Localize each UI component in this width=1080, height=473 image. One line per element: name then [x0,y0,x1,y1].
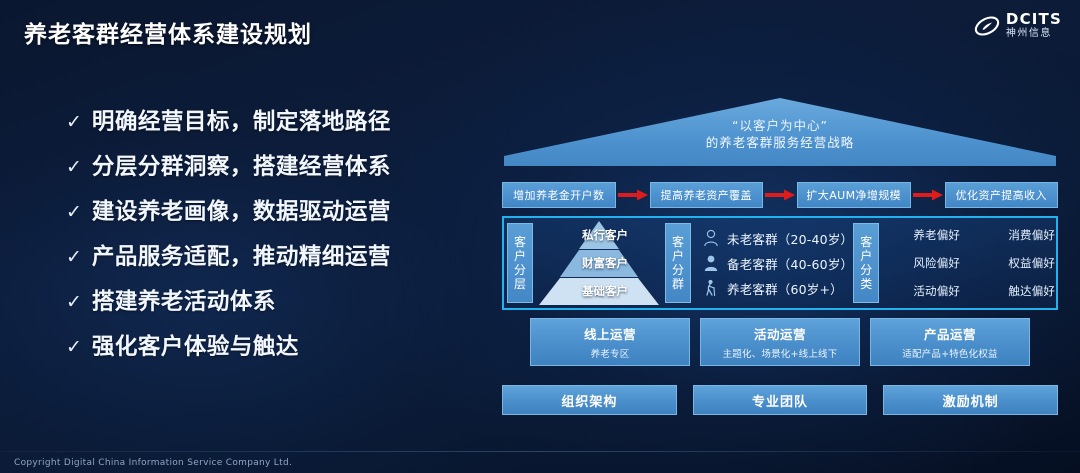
arrow-right-icon [911,182,945,208]
list-item-label: 搭建养老活动体系 [92,284,276,316]
class-label-c3: 类 [860,277,872,291]
tier-label-c2: 分 [514,263,526,277]
check-icon: ✓ [66,158,82,177]
foundation-card-team[interactable]: 专业团队 [693,385,868,415]
group-label-c2: 分 [672,263,684,277]
kpi-box-2[interactable]: 提高养老资产覆盖 [650,182,764,208]
group-label-c1: 户 [672,249,684,263]
class-vertical-label: 客 户 分 类 [853,223,879,303]
tier-label-c0: 客 [514,235,526,249]
tier-label-c3: 层 [514,277,526,291]
check-icon: ✓ [66,248,82,267]
list-item-label: 分层分群洞察，搭建经营体系 [92,149,391,181]
strategy-house-diagram: “以客户为中心” 的养老客群服务经营战略 增加养老金开户数 提高养老资产覆盖 扩… [493,96,1068,426]
arrow-right-icon [763,182,797,208]
operation-card-product[interactable]: 产品运营 适配产品+特色化权益 [870,318,1030,366]
group-label-c3: 群 [672,277,684,291]
adult-person-icon [703,254,719,272]
preference-tag: 活动偏好 [913,283,960,299]
tier-vertical-label: 客 户 分 层 [507,223,533,303]
page-title: 养老客群经营体系建设规划 [24,15,312,49]
customer-tier-pyramid: 私行客户 财富客户 基础客户 [533,221,665,305]
list-item: ✓ 搭建养老活动体系 [66,284,476,316]
pyramid-tier-label-top: 私行客户 [539,227,671,243]
list-item: ✓ 分层分群洞察，搭建经营体系 [66,149,476,181]
check-icon: ✓ [66,293,82,312]
preference-tag: 触达偏好 [1008,283,1055,299]
roof-shape: “以客户为中心” 的养老客群服务经营战略 [504,96,1056,166]
brand-logo: DCITS 神州信息 [974,12,1062,39]
key-points-list: ✓ 明确经营目标，制定落地路径 ✓ 分层分群洞察，搭建经营体系 ✓ 建设养老画像… [66,104,476,361]
foundation-card-incentive[interactable]: 激励机制 [883,385,1058,415]
tier-label-c1: 户 [514,249,526,263]
operation-card-online[interactable]: 线上运营 养老专区 [530,318,690,366]
logo-wordmark-en: DCITS [1006,12,1062,27]
class-label-c1: 户 [860,249,872,263]
check-icon: ✓ [66,203,82,222]
slide-root: 养老客群经营体系建设规划 DCITS 神州信息 ✓ 明确经营目标，制定落地路径 … [0,0,1080,473]
check-icon: ✓ [66,113,82,132]
check-icon: ✓ [66,338,82,357]
operation-card-subtitle: 适配产品+特色化权益 [902,346,997,360]
list-item: 备老客群（40-60岁） [703,254,853,273]
operation-card-title: 活动运营 [754,324,806,343]
operations-row: 线上运营 养老专区 活动运营 主题化、场景化+线上线下 产品运营 适配产品+特色… [502,318,1058,366]
kpi-box-3[interactable]: 扩大AUM净增规模 [797,182,911,208]
list-item: 养老客群（60岁+） [703,279,853,298]
list-item-label: 产品服务适配，推动精细运营 [92,239,391,271]
group-label-c0: 客 [672,235,684,249]
list-item: ✓ 产品服务适配，推动精细运营 [66,239,476,271]
preference-tag: 风险偏好 [913,255,960,271]
group-item-label: 未老客群（20-40岁） [727,229,853,248]
dcits-swoosh-icon [974,13,1000,39]
list-item-label: 明确经营目标，制定落地路径 [92,104,391,136]
operation-card-subtitle: 养老专区 [591,346,630,360]
footer-divider [0,451,1080,452]
customer-group-list: 未老客群（20-40岁） 备老客群（40-60岁） [691,221,853,305]
logo-wordmark-cn: 神州信息 [1006,29,1062,39]
elderly-cane-icon [703,279,719,297]
customer-segmentation-panel: 客 户 分 层 私行客户 财富客户 [502,216,1058,310]
arrow-right-icon [616,182,650,208]
roof-title-line2: 的养老客群服务经营战略 [504,135,1056,152]
list-item-label: 强化客户体验与触达 [92,329,299,361]
roof-title-line1: “以客户为中心” [504,118,1056,135]
operation-card-subtitle: 主题化、场景化+线上线下 [723,346,838,360]
list-item: ✓ 明确经营目标，制定落地路径 [66,104,476,136]
kpi-flow-row: 增加养老金开户数 提高养老资产覆盖 扩大AUM净增规模 优化资产提高收入 [502,182,1058,208]
operation-card-title: 线上运营 [584,324,636,343]
preference-tag: 权益偏好 [1008,255,1055,271]
copyright-text: Copyright Digital China Information Serv… [14,458,292,468]
young-person-icon [703,229,719,247]
foundation-card-org[interactable]: 组织架构 [502,385,677,415]
operation-card-campaign[interactable]: 活动运营 主题化、场景化+线上线下 [700,318,860,366]
operation-card-title: 产品运营 [924,324,976,343]
list-item: 未老客群（20-40岁） [703,229,853,248]
kpi-box-1[interactable]: 增加养老金开户数 [502,182,616,208]
class-label-c2: 分 [860,263,872,277]
group-item-label: 备老客群（40-60岁） [727,254,853,273]
list-item-label: 建设养老画像，数据驱动运营 [92,194,391,226]
preference-tag: 养老偏好 [913,227,960,243]
foundation-row: 组织架构 专业团队 激励机制 [502,385,1058,415]
list-item: ✓ 建设养老画像，数据驱动运营 [66,194,476,226]
preference-tag: 消费偏好 [1008,227,1055,243]
kpi-box-4[interactable]: 优化资产提高收入 [945,182,1059,208]
class-label-c0: 客 [860,235,872,249]
list-item: ✓ 强化客户体验与触达 [66,329,476,361]
preference-tag-grid: 养老偏好 消费偏好 风险偏好 权益偏好 活动偏好 触达偏好 [879,221,1079,305]
pyramid-tier-label-base: 基础客户 [539,283,671,299]
group-item-label: 养老客群（60岁+） [727,279,843,298]
pyramid-tier-label-mid: 财富客户 [539,255,671,271]
